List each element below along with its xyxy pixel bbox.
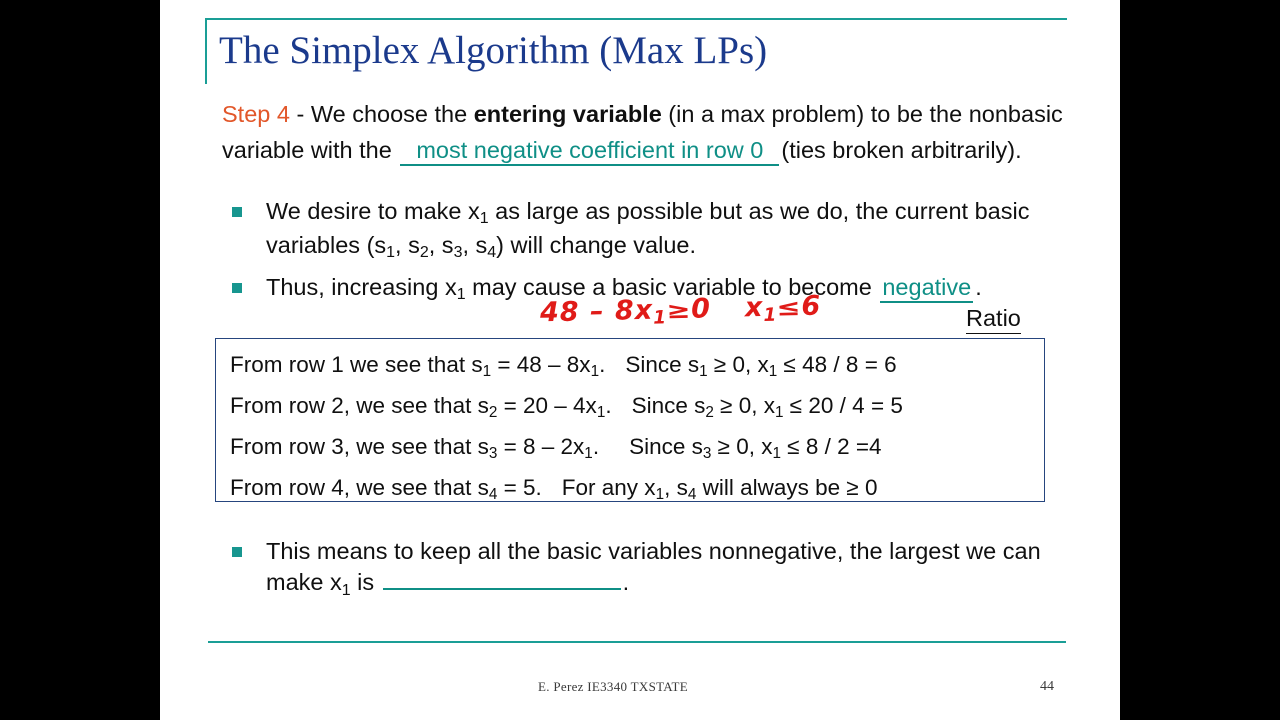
page-number: 44 xyxy=(1040,679,1054,695)
list-item: This means to keep all the basic variabl… xyxy=(222,536,1097,601)
bullet-desire-text: We desire to make x1 as large as possibl… xyxy=(266,198,1029,258)
square-bullet-icon xyxy=(232,283,242,293)
fill-in-answer-negative: negative xyxy=(880,274,973,303)
ratio-label: Ratio xyxy=(966,305,1021,334)
table-row: From row 3, we see that s3 = 8 – 2x1.Sin… xyxy=(230,428,1044,469)
screenshot-stage: The Simplex Algorithm (Max LPs) Step 4 -… xyxy=(0,0,1280,720)
square-bullet-icon xyxy=(232,207,242,217)
table-row: From row 4, we see that s4 = 5.For any x… xyxy=(230,469,1044,510)
fill-in-answer-row0: most negative coefficient in row 0 xyxy=(400,137,779,166)
list-item: We desire to make x1 as large as possibl… xyxy=(222,196,1092,264)
table-row: From row 1 we see that s1 = 48 – 8x1.Sin… xyxy=(230,346,1044,387)
answer-blank xyxy=(383,566,621,590)
presentation-slide: The Simplex Algorithm (Max LPs) Step 4 -… xyxy=(160,0,1120,720)
derivation-box: From row 1 we see that s1 = 48 – 8x1.Sin… xyxy=(215,338,1045,502)
table-row: From row 2, we see that s2 = 20 – 4x1.Si… xyxy=(230,387,1044,428)
closing-bullet-text: This means to keep all the basic variabl… xyxy=(266,538,1041,595)
slide-title-frame: The Simplex Algorithm (Max LPs) xyxy=(205,18,1067,84)
step-paragraph: Step 4 - We choose the entering variable… xyxy=(222,96,1087,168)
handwritten-annotation: 48 – 8x1≥0x1≤6 xyxy=(540,291,822,329)
footer-divider xyxy=(208,641,1066,643)
entering-variable-emphasis: entering variable xyxy=(474,101,662,127)
page-title: The Simplex Algorithm (Max LPs) xyxy=(219,28,767,73)
footer-credit: E. Perez IE3340 TXSTATE xyxy=(538,679,688,695)
step-text-tail: (ties broken arbitrarily). xyxy=(781,137,1021,163)
square-bullet-icon xyxy=(232,547,242,557)
step-label: Step 4 xyxy=(222,101,290,127)
step-text-before-bold: - We choose the xyxy=(290,101,474,127)
closing-bullet-list: This means to keep all the basic variabl… xyxy=(222,536,1097,609)
